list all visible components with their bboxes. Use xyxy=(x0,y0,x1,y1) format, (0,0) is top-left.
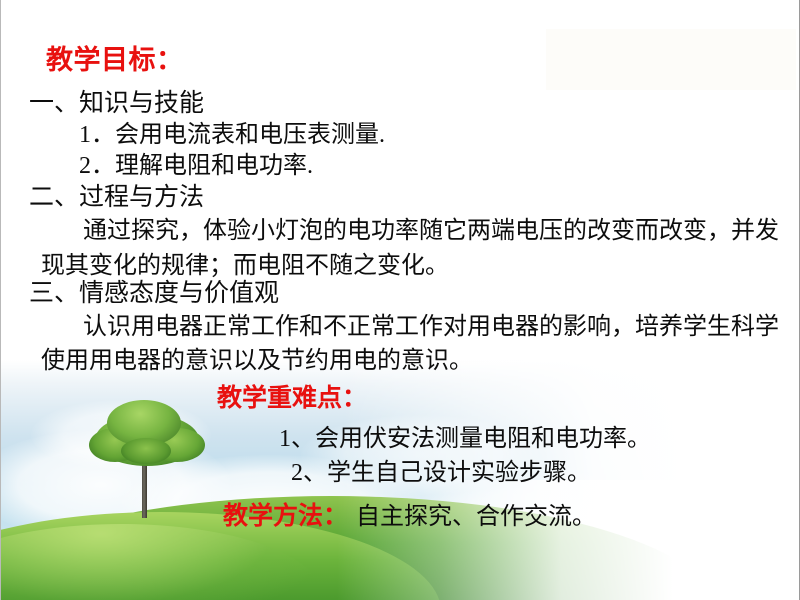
key-points-title: 教学重难点： xyxy=(217,378,367,414)
key-point-item: 1、会用伏安法测量电阻和电功率。 xyxy=(279,418,651,453)
objective-heading: 三、情感态度与价值观 xyxy=(1,278,800,310)
slide-canvas: 教学目标： 一、知识与技能 1．会用电流表和电压表测量. 2．理解电阻和电功率.… xyxy=(0,0,800,600)
objective-paragraph: 通过探究，体验小灯泡的电功率随它两端电压的改变而改变，并发现其变化的规律；而电阻… xyxy=(1,214,800,284)
teaching-method-label: 教学方法： xyxy=(223,503,348,530)
key-point-item: 2、学生自己设计实验步骤。 xyxy=(291,452,591,487)
teaching-method-row: 教学方法：自主探究、合作交流。 xyxy=(223,496,596,532)
objective-section-two: 二、过程与方法 通过探究，体验小灯泡的电功率随它两端电压的改变而改变，并发现其变… xyxy=(1,182,800,284)
objective-section-three: 三、情感态度与价值观 认识用电器正常工作和不正常工作对用电器的影响，培养学生科学… xyxy=(1,278,800,378)
objective-item: 1．会用电流表和电压表测量. xyxy=(1,120,800,151)
teaching-method-value: 自主探究、合作交流。 xyxy=(356,504,596,530)
objective-heading: 二、过程与方法 xyxy=(1,182,800,214)
objective-heading: 一、知识与技能 xyxy=(1,88,800,120)
page-title: 教学目标： xyxy=(46,38,184,77)
objective-item: 2．理解电阻和电功率. xyxy=(1,151,800,182)
objective-section-one: 一、知识与技能 1．会用电流表和电压表测量. 2．理解电阻和电功率. xyxy=(1,88,800,182)
objective-paragraph: 认识用电器正常工作和不正常工作对用电器的影响，培养学生科学使用用电器的意识以及节… xyxy=(1,310,800,378)
slide-content: 教学目标： 一、知识与技能 1．会用电流表和电压表测量. 2．理解电阻和电功率.… xyxy=(1,0,800,600)
